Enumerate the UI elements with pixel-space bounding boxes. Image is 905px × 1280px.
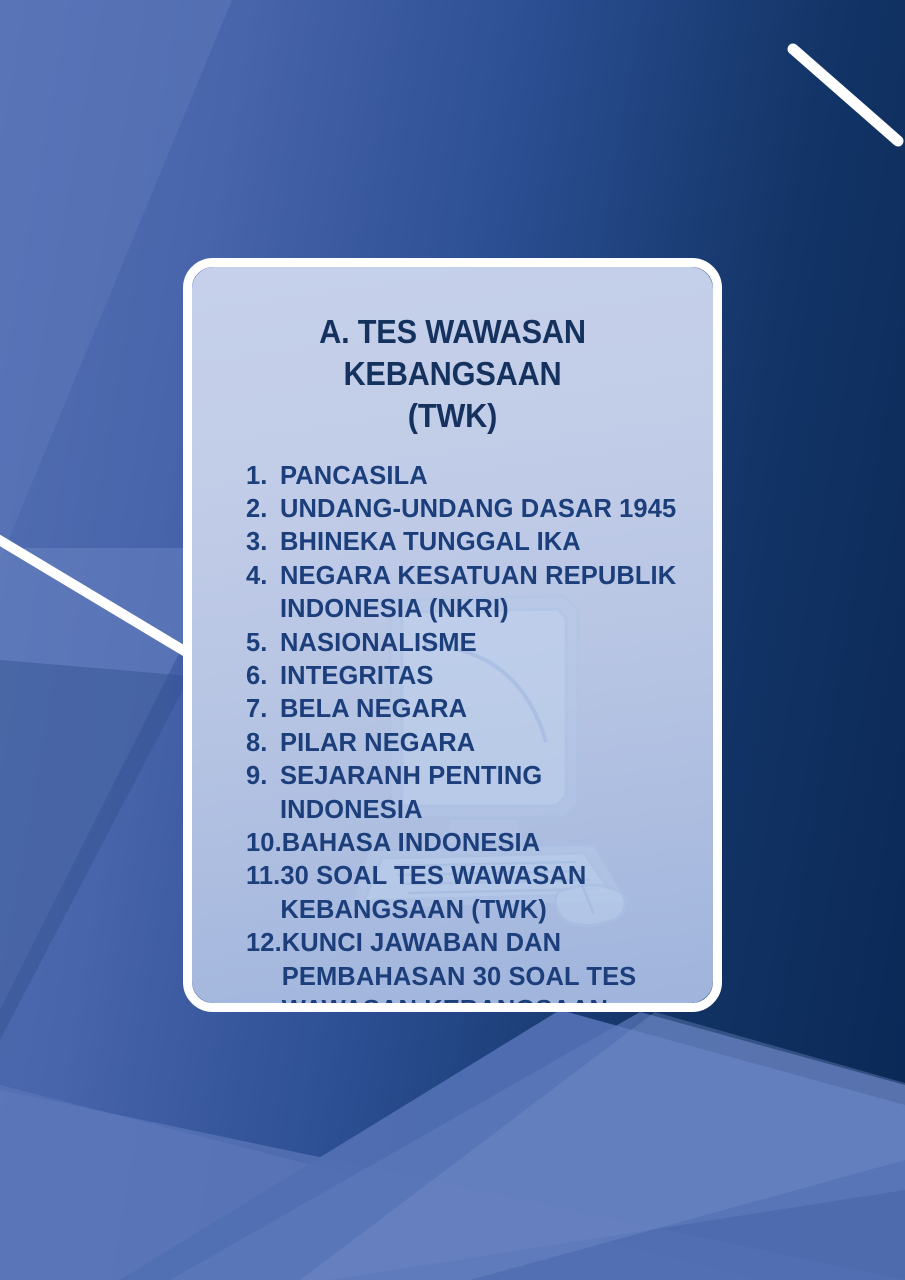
list-item-number: 2. <box>246 493 280 526</box>
list-item[interactable]: 9. SEJARANH PENTING INDONESIA <box>246 760 687 827</box>
list-item[interactable]: 11. 30 SOAL TES WAWASAN KEBANGSAAN (TWK) <box>246 860 687 927</box>
list-item[interactable]: 6. INTEGRITAS <box>246 660 687 693</box>
list-item-label: NASIONALISME <box>280 627 687 660</box>
list-item[interactable]: 3. BHINEKA TUNGGAL IKA <box>246 526 687 559</box>
list-item-number: 12. <box>246 927 282 960</box>
list-item-label: PILAR NEGARA <box>280 727 687 760</box>
list-item-label: KUNCI JAWABAN DAN PEMBAHASAN 30 SOAL TES… <box>282 927 687 1003</box>
list-item-label: INTEGRITAS <box>280 660 687 693</box>
list-item-number: 7. <box>246 693 280 726</box>
page-canvas: A. TES WAWASAN KEBANGSAAN (TWK) 1. PANCA… <box>0 0 905 1280</box>
list-item[interactable]: 7. BELA NEGARA <box>246 693 687 726</box>
content-card: A. TES WAWASAN KEBANGSAAN (TWK) 1. PANCA… <box>183 258 722 1012</box>
list-item-label: SEJARANH PENTING INDONESIA <box>280 760 687 827</box>
list-item[interactable]: 8. PILAR NEGARA <box>246 727 687 760</box>
list-item-label: UNDANG-UNDANG DASAR 1945 <box>280 493 687 526</box>
diagonal-band-left-lower <box>0 660 190 1040</box>
list-item[interactable]: 12. KUNCI JAWABAN DAN PEMBAHASAN 30 SOAL… <box>246 927 687 1003</box>
page-title: A. TES WAWASAN KEBANGSAAN (TWK) <box>234 311 670 438</box>
list-item-label: BELA NEGARA <box>280 693 687 726</box>
list-item-number: 6. <box>246 660 280 693</box>
table-of-contents-list: 1. PANCASILA 2. UNDANG-UNDANG DASAR 1945… <box>218 460 687 1003</box>
list-item-label: BAHASA INDONESIA <box>282 827 687 860</box>
list-item-number: 1. <box>246 460 280 493</box>
list-item-label: NEGARA KESATUAN REPUBLIK INDONESIA (NKRI… <box>280 560 687 627</box>
list-item-label: BHINEKA TUNGGAL IKA <box>280 526 687 559</box>
list-item-number: 9. <box>246 760 280 793</box>
list-item[interactable]: 4. NEGARA KESATUAN REPUBLIK INDONESIA (N… <box>246 560 687 627</box>
list-item-number: 10. <box>246 827 282 860</box>
list-item-number: 5. <box>246 627 280 660</box>
list-item-number: 11. <box>246 860 280 893</box>
card-content: A. TES WAWASAN KEBANGSAAN (TWK) 1. PANCA… <box>192 267 713 1003</box>
list-item[interactable]: 1. PANCASILA <box>246 460 687 493</box>
list-item-number: 4. <box>246 560 280 593</box>
list-item[interactable]: 5. NASIONALISME <box>246 627 687 660</box>
list-item-label: PANCASILA <box>280 460 687 493</box>
list-item-number: 3. <box>246 526 280 559</box>
list-item[interactable]: 10. BAHASA INDONESIA <box>246 827 687 860</box>
list-item-number: 8. <box>246 727 280 760</box>
list-item-label: 30 SOAL TES WAWASAN KEBANGSAAN (TWK) <box>280 860 687 927</box>
list-item[interactable]: 2. UNDANG-UNDANG DASAR 1945 <box>246 493 687 526</box>
card-surface: A. TES WAWASAN KEBANGSAAN (TWK) 1. PANCA… <box>192 267 713 1003</box>
